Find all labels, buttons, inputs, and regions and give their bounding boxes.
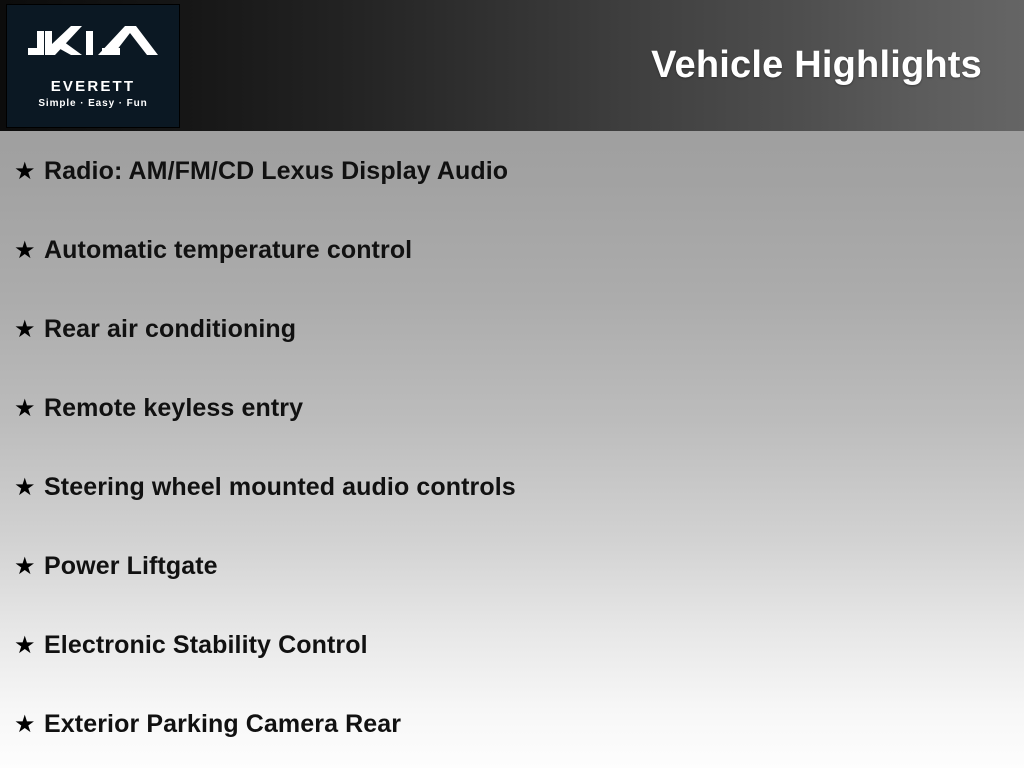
list-item: ★ Electronic Stability Control — [0, 605, 1024, 684]
highlight-label: Electronic Stability Control — [44, 630, 368, 660]
vehicle-highlights-list: ★ Radio: AM/FM/CD Lexus Display Audio ★ … — [0, 131, 1024, 768]
star-icon: ★ — [14, 633, 44, 657]
star-icon: ★ — [14, 554, 44, 578]
list-item: ★ Radio: AM/FM/CD Lexus Display Audio — [0, 131, 1024, 210]
list-item: ★ Exterior Parking Camera Rear — [0, 684, 1024, 763]
star-icon: ★ — [14, 238, 44, 262]
highlight-label: Exterior Parking Camera Rear — [44, 709, 401, 739]
highlight-label: Radio: AM/FM/CD Lexus Display Audio — [44, 156, 508, 186]
star-icon: ★ — [14, 317, 44, 341]
highlight-label: Power Liftgate — [44, 551, 218, 581]
list-item: ★ Automatic temperature control — [0, 210, 1024, 289]
star-icon: ★ — [14, 396, 44, 420]
page-title: Vehicle Highlights — [651, 42, 982, 88]
list-item: ★ Rear air conditioning — [0, 289, 1024, 368]
list-item: ★ Power Liftgate — [0, 526, 1024, 605]
slide-header: EVERETT Simple · Easy · Fun Vehicle High… — [0, 0, 1024, 131]
highlight-label: Rear air conditioning — [44, 314, 296, 344]
slide-root: EVERETT Simple · Easy · Fun Vehicle High… — [0, 0, 1024, 768]
list-item: ★ Remote keyless entry — [0, 368, 1024, 447]
dealer-tagline: Simple · Easy · Fun — [7, 98, 179, 110]
list-item: ★ Steering wheel mounted audio controls — [0, 447, 1024, 526]
star-icon: ★ — [14, 159, 44, 183]
dealer-logo: EVERETT Simple · Easy · Fun — [6, 4, 180, 128]
dealer-name: EVERETT — [7, 79, 179, 95]
kia-wordmark-icon — [27, 25, 159, 61]
star-icon: ★ — [14, 712, 44, 736]
highlight-label: Automatic temperature control — [44, 235, 412, 265]
highlight-label: Remote keyless entry — [44, 393, 303, 423]
star-icon: ★ — [14, 475, 44, 499]
highlight-label: Steering wheel mounted audio controls — [44, 472, 516, 502]
